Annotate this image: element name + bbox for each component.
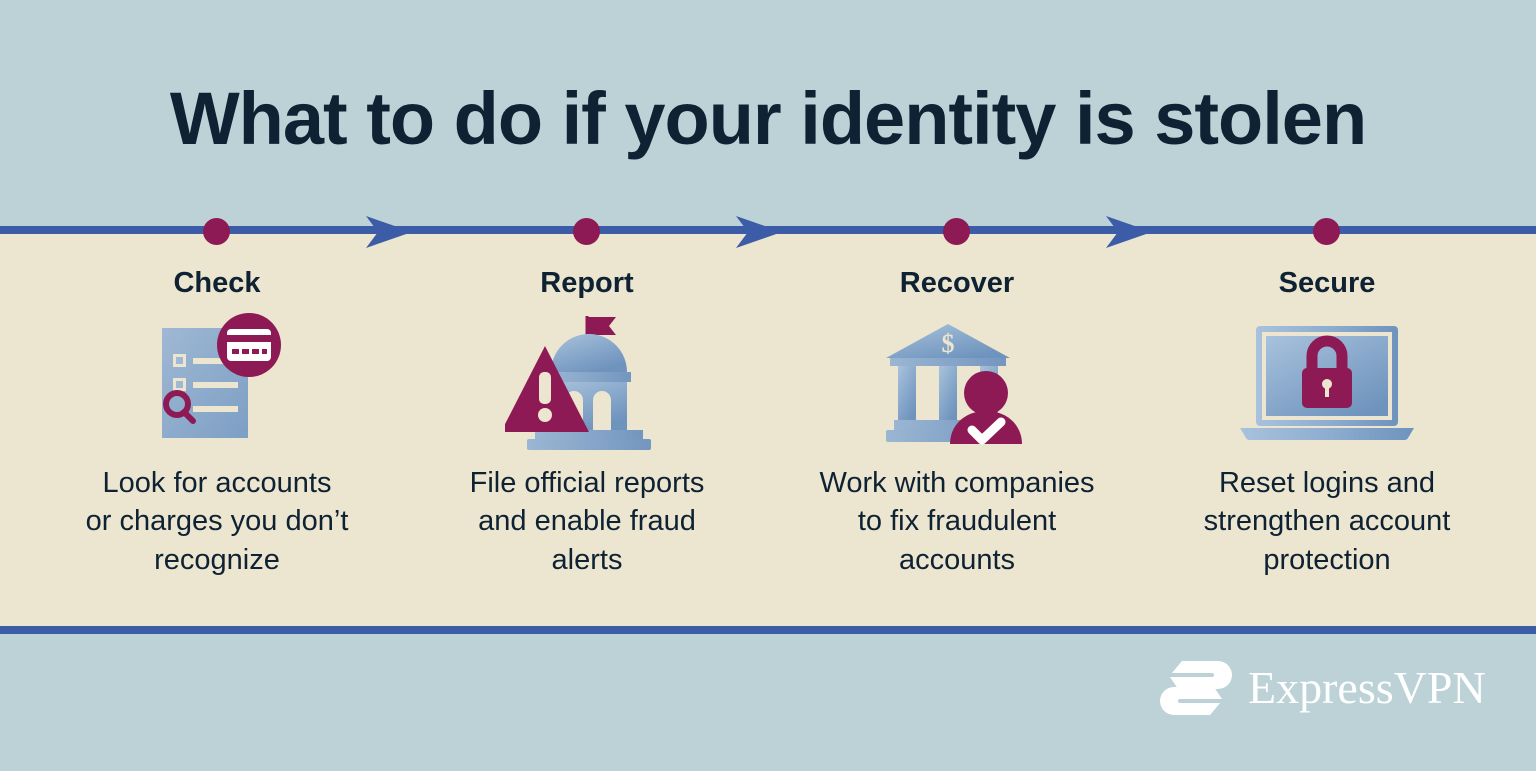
bottom-divider xyxy=(0,626,1536,634)
caption-line: to fix fraudulent xyxy=(792,502,1122,541)
step-caption: File official reports and enable fraud a… xyxy=(422,464,752,580)
step-column-secure: Secure xyxy=(1162,268,1492,580)
caption-line: accounts xyxy=(792,541,1122,580)
step-column-check: Check xyxy=(52,268,382,580)
timeline-arrow-icon xyxy=(1100,214,1156,250)
laptop-padlock-icon xyxy=(1240,310,1415,450)
bank-person-check-icon: $ xyxy=(882,310,1032,450)
timeline-arrow-icon xyxy=(730,214,786,250)
caption-line: alerts xyxy=(422,541,752,580)
step-label: Check xyxy=(52,268,382,300)
caption-line: strengthen account xyxy=(1162,502,1492,541)
timeline-dot xyxy=(573,218,600,245)
step-icon xyxy=(52,308,382,450)
step-icon: $ xyxy=(792,308,1122,450)
government-building-warning-icon xyxy=(505,310,670,450)
document-checklist-credit-card-icon xyxy=(142,310,292,450)
timeline-dot xyxy=(1313,218,1340,245)
step-icon xyxy=(422,308,752,450)
step-caption: Look for accounts or charges you don’t r… xyxy=(52,464,382,580)
caption-line: and enable fraud xyxy=(422,502,752,541)
caption-line: or charges you don’t xyxy=(52,502,382,541)
svg-text:$: $ xyxy=(942,329,955,358)
timeline-arrow-icon xyxy=(360,214,416,250)
caption-line: File official reports xyxy=(422,464,752,503)
caption-line: recognize xyxy=(52,541,382,580)
brand-wordmark: ExpressVPN xyxy=(1248,665,1486,711)
step-column-recover: Recover $ xyxy=(792,268,1122,580)
timeline-dot xyxy=(203,218,230,245)
step-column-report: Report xyxy=(422,268,752,580)
caption-line: Look for accounts xyxy=(52,464,382,503)
step-label: Recover xyxy=(792,268,1122,300)
caption-line: Work with companies xyxy=(792,464,1122,503)
step-label: Report xyxy=(422,268,752,300)
step-label: Secure xyxy=(1162,268,1492,300)
timeline-dot xyxy=(943,218,970,245)
expressvpn-logo[interactable]: ExpressVPN xyxy=(1160,655,1486,721)
step-icon xyxy=(1162,308,1492,450)
step-caption: Reset logins and strengthen account prot… xyxy=(1162,464,1492,580)
infographic-canvas: What to do if your identity is stolen Ch… xyxy=(0,0,1536,771)
expressvpn-logo-icon xyxy=(1160,655,1232,721)
step-caption: Work with companies to fix fraudulent ac… xyxy=(792,464,1122,580)
caption-line: protection xyxy=(1162,541,1492,580)
caption-line: Reset logins and xyxy=(1162,464,1492,503)
page-title: What to do if your identity is stolen xyxy=(0,82,1536,156)
